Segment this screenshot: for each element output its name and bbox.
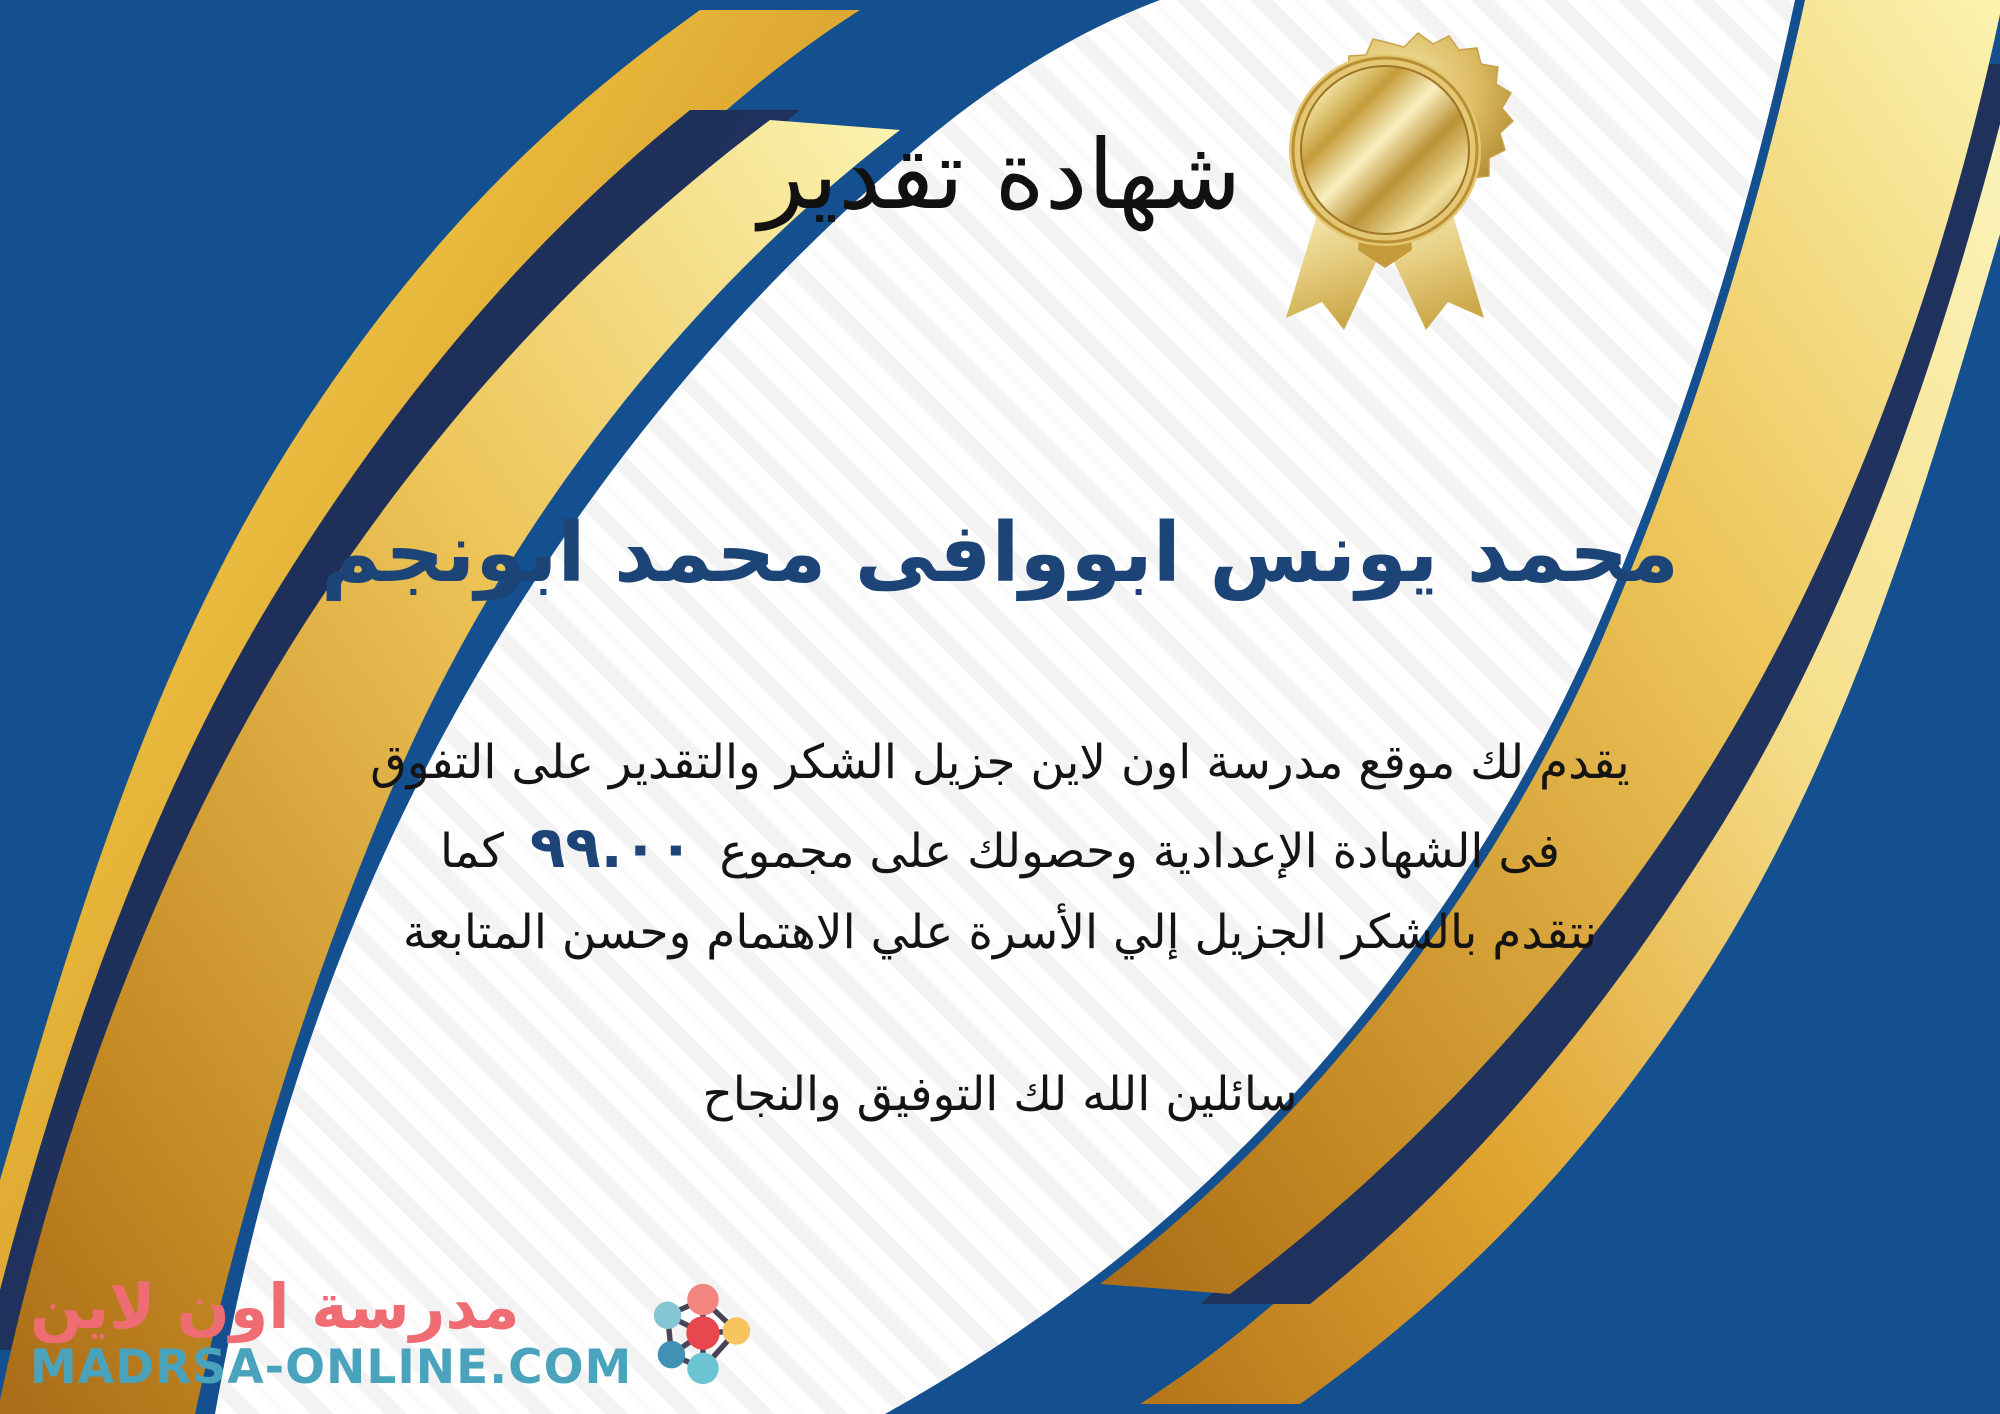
grade-value: ٩٩.٠٠ bbox=[504, 801, 720, 895]
body-line-3: نتقدم بالشكر الجزيل إلي الأسرة علي الاهت… bbox=[210, 895, 1790, 971]
node-red bbox=[687, 1316, 720, 1349]
certificate-canvas: شهادة تقدير محمد يونس ابووافى محمد ابونج… bbox=[0, 0, 2000, 1414]
brand-name-arabic: مدرسة اون لاين bbox=[30, 1276, 520, 1338]
body-line-2: فى الشهادة الإعدادية وحصولك على مجموع٩٩.… bbox=[210, 801, 1790, 895]
node-yellow bbox=[723, 1317, 751, 1345]
brand-website-url: MADRSA-ONLINE.COM bbox=[30, 1344, 632, 1391]
body-line-1: يقدم لك موقع مدرسة اون لاين جزيل الشكر و… bbox=[210, 725, 1790, 801]
node-light-teal bbox=[654, 1302, 682, 1330]
node-cyan bbox=[688, 1353, 719, 1384]
certificate-body: يقدم لك موقع مدرسة اون لاين جزيل الشكر و… bbox=[210, 725, 1790, 971]
closing-line: سائلين الله لك التوفيق والنجاح bbox=[210, 1060, 1790, 1131]
brand-logo-text: مدرسة اون لاين MADRSA-ONLINE.COM bbox=[30, 1276, 632, 1391]
network-nodes-logo-icon bbox=[642, 1274, 760, 1392]
node-coral bbox=[688, 1284, 719, 1315]
certificate-content: شهادة تقدير محمد يونس ابووافى محمد ابونج… bbox=[0, 0, 2000, 1414]
node-blue bbox=[658, 1341, 686, 1369]
certificate-title: شهادة تقدير bbox=[0, 120, 2000, 230]
body-line-2-prefix: فى الشهادة الإعدادية وحصولك على مجموع bbox=[719, 824, 1560, 879]
brand-logo[interactable]: مدرسة اون لاين MADRSA-ONLINE.COM bbox=[30, 1274, 760, 1392]
recipient-name: محمد يونس ابووافى محمد ابونجم bbox=[0, 505, 2000, 603]
body-line-2-suffix: كما bbox=[440, 824, 504, 879]
